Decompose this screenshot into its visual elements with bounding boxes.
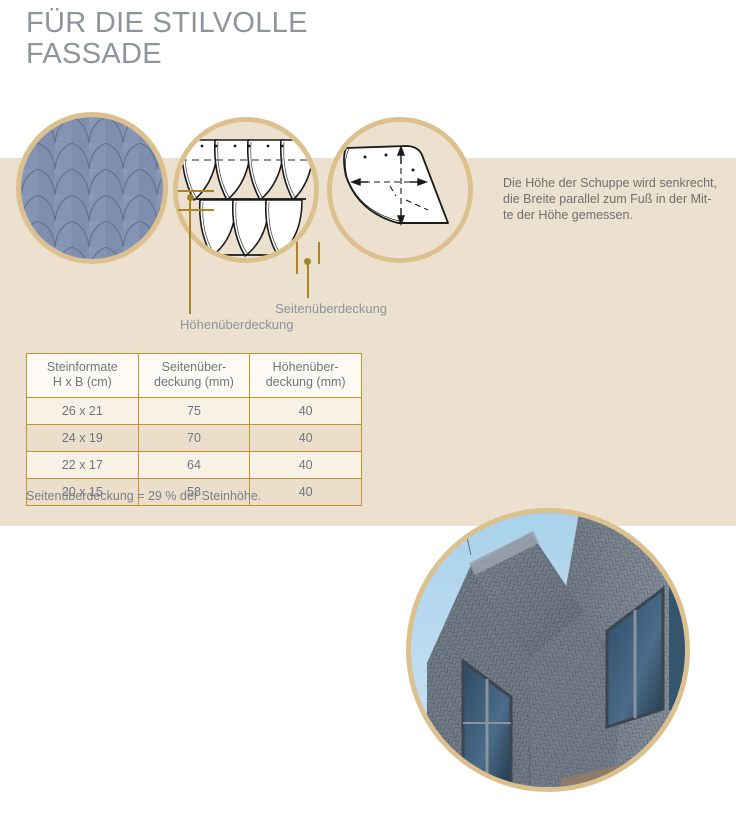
side-overlap-tick-left bbox=[296, 242, 298, 274]
column-header-side-overlap: Seitenüber- deckung (mm) bbox=[138, 354, 250, 398]
page-title: FÜR DIE STILVOLLE FASSADE bbox=[26, 8, 308, 70]
table-row: 22 x 17 64 40 bbox=[27, 452, 362, 479]
table-row: 26 x 21 75 40 bbox=[27, 398, 362, 425]
column-header-format: Steinformate H x B (cm) bbox=[27, 354, 139, 398]
cell-side-overlap: 70 bbox=[138, 425, 250, 452]
single-tile-diagram-circle bbox=[327, 117, 473, 263]
cell-height-overlap: 40 bbox=[250, 398, 362, 425]
height-overlap-leader-line bbox=[189, 196, 191, 314]
cell-side-overlap: 75 bbox=[138, 398, 250, 425]
cell-side-overlap: 64 bbox=[138, 452, 250, 479]
height-overlap-tick-top bbox=[178, 190, 214, 192]
roof-photo-circle bbox=[406, 508, 690, 792]
stone-format-table: Steinformate H x B (cm) Seitenüber- deck… bbox=[26, 353, 362, 506]
measurement-note: Die Höhe der Schuppe wird senkrecht, die… bbox=[503, 175, 725, 223]
cell-format: 26 x 21 bbox=[27, 398, 139, 425]
single-scale-tile-dimensions-diagram bbox=[332, 122, 468, 258]
table-footnote: Seitenüberdeckung = 29 % der Steinhöhe. bbox=[26, 489, 261, 503]
slate-facade-photo-circle bbox=[16, 112, 168, 264]
cell-height-overlap: 40 bbox=[250, 452, 362, 479]
side-overlap-anchor-dot bbox=[304, 258, 311, 265]
cell-format: 22 x 17 bbox=[27, 452, 139, 479]
height-overlap-label: Höhenüberdeckung bbox=[180, 317, 293, 332]
column-header-height-overlap: Höhenüber- deckung (mm) bbox=[250, 354, 362, 398]
table-row: 24 x 19 70 40 bbox=[27, 425, 362, 452]
slate-facade-photo bbox=[21, 117, 163, 259]
cell-format: 24 x 19 bbox=[27, 425, 139, 452]
side-overlap-label: Seitenüberdeckung bbox=[275, 301, 387, 316]
table-header-row: Steinformate H x B (cm) Seitenüber- deck… bbox=[27, 354, 362, 398]
cell-height-overlap: 40 bbox=[250, 479, 362, 506]
slate-dormer-photo bbox=[411, 513, 685, 787]
height-overlap-tick-bottom bbox=[178, 209, 214, 211]
side-overlap-tick-right bbox=[318, 242, 320, 264]
height-overlap-anchor-dot bbox=[187, 194, 194, 201]
side-overlap-leader-line bbox=[307, 260, 309, 298]
cell-height-overlap: 40 bbox=[250, 425, 362, 452]
